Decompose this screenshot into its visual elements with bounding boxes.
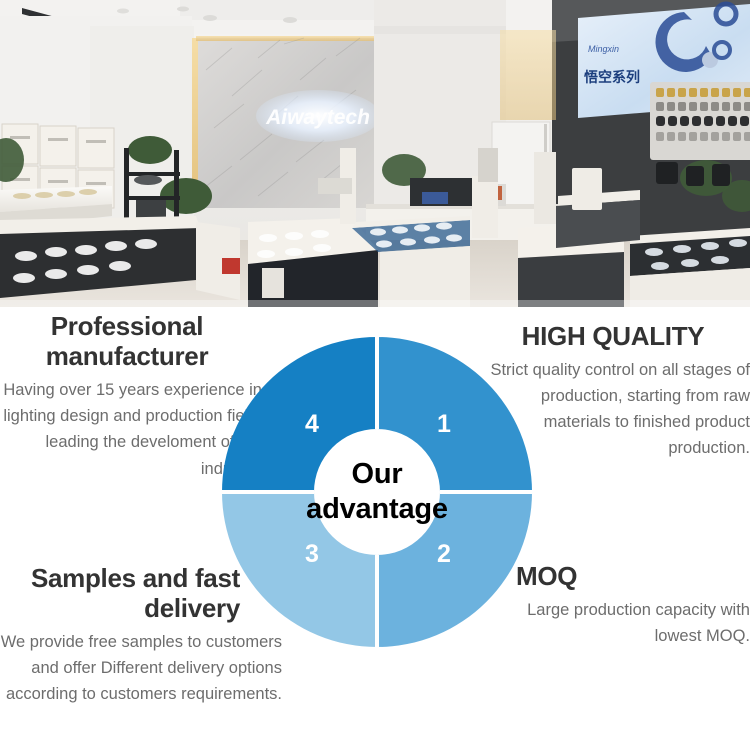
donut-label-2: 2 — [437, 540, 451, 568]
product-wall-board — [650, 82, 750, 160]
advantage-block-moq: MOQ Large production capacity with lowes… — [508, 561, 750, 649]
donut-label-4: 4 — [305, 410, 319, 438]
svg-text:悟空系列: 悟空系列 — [584, 69, 640, 86]
advantages-infographic: Professional manufacturer Having over 15… — [0, 307, 750, 750]
floor-red-box — [222, 258, 240, 274]
donut-segment-3[interactable] — [222, 492, 377, 647]
svg-text:Mingxin: Mingxin — [588, 44, 619, 54]
showroom-photo: Aiwaytech Mingxin 悟空系列 — [0, 0, 750, 307]
donut-label-3: 3 — [305, 540, 319, 568]
floor-box — [262, 268, 284, 298]
donut-segment-1[interactable] — [377, 337, 532, 492]
neon-sign: Aiwaytech — [256, 90, 380, 142]
advantage-donut-chart: 1 2 3 4 Our advantage — [222, 337, 532, 647]
donut-segment-4[interactable] — [222, 337, 377, 492]
advantage-title-moq: MOQ — [508, 561, 750, 591]
donut-label-1: 1 — [437, 410, 451, 438]
svg-text:Aiwaytech: Aiwaytech — [265, 106, 370, 129]
donut-svg: 1 2 3 4 — [222, 337, 532, 647]
showroom-photo-banner: Aiwaytech Mingxin 悟空系列 — [0, 0, 750, 307]
donut-segment-2[interactable] — [377, 492, 532, 647]
advantage-body-moq: Large production capacity with lowest MO… — [508, 597, 750, 649]
